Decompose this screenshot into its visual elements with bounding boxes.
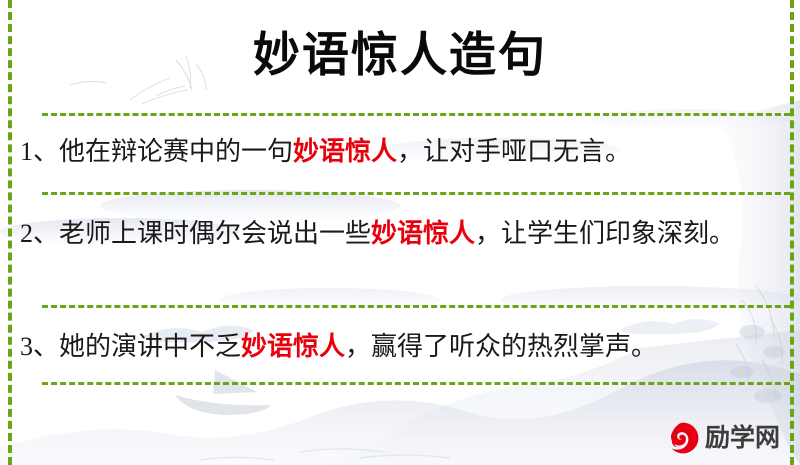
example-sentence-3: 3、她的演讲中不乏妙语惊人，赢得了听众的热烈掌声。 <box>20 325 772 369</box>
example-sentence-2: 2、老师上课时偶尔会说出一些妙语惊人，让学生们印象深刻。 <box>20 212 772 256</box>
sentence-2-number: 2、 <box>20 219 59 248</box>
worksheet-page: 妙语惊人造句 1、他在辩论赛中的一句妙语惊人，让对手哑口无言。 2、老师上课时偶… <box>0 0 800 465</box>
sentence-3-text-before: 她的演讲中不乏 <box>59 332 241 361</box>
site-watermark-brand: 励学网 <box>705 424 780 452</box>
divider-2 <box>42 192 790 195</box>
sentence-1-keyword: 妙语惊人 <box>293 137 397 166</box>
sentence-3-number: 3、 <box>20 332 59 361</box>
sentence-1-text-before: 他在辩论赛中的一句 <box>59 137 293 166</box>
sentence-1-number: 1、 <box>20 137 59 166</box>
divider-3 <box>42 305 790 308</box>
sentence-2-text-after: ，让学生们印象深刻。 <box>475 219 735 248</box>
divider-1 <box>42 113 790 116</box>
example-sentence-1: 1、他在辩论赛中的一句妙语惊人，让对手哑口无言。 <box>20 130 772 174</box>
sentence-1-text-after: ，让对手哑口无言。 <box>397 137 631 166</box>
flame-swirl-icon <box>666 421 700 455</box>
page-title: 妙语惊人造句 <box>0 26 800 86</box>
sentence-3-text-after: ，赢得了听众的热烈掌声。 <box>345 332 657 361</box>
sentence-2-text-before: 老师上课时偶尔会说出一些 <box>59 219 371 248</box>
divider-4 <box>42 382 790 385</box>
sentence-3-keyword: 妙语惊人 <box>241 332 345 361</box>
site-watermark: 励学网 <box>666 418 780 458</box>
sentence-2-keyword: 妙语惊人 <box>371 219 475 248</box>
